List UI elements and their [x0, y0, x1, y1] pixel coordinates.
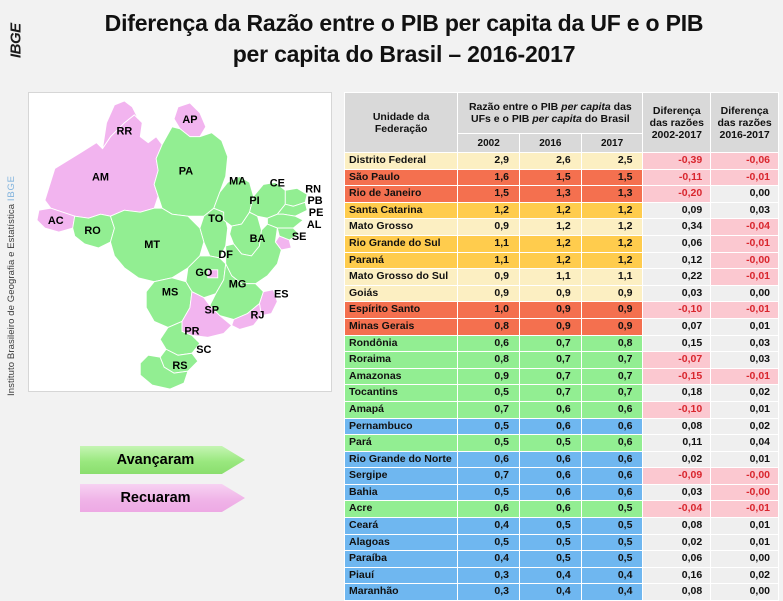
table-row: Alagoas0,50,50,50,020,01 — [345, 534, 779, 551]
cell-dif-2016-2017: 0,03 — [711, 335, 779, 352]
ratio-group-b: per capita — [561, 101, 611, 113]
cell-ratio-2017: 0,9 — [581, 318, 643, 335]
cell-ratio-2017: 0,4 — [581, 584, 643, 601]
map-label-ms: MS — [162, 287, 178, 299]
cell-dif-2002-2017: 0,12 — [643, 252, 711, 269]
cell-dif-2002-2017: 0,18 — [643, 385, 711, 402]
cell-ratio-2002: 0,6 — [458, 501, 520, 518]
table-row: Ceará0,40,50,50,080,01 — [345, 518, 779, 535]
cell-ratio-2002: 0,7 — [458, 401, 520, 418]
cell-ratio-2016: 0,6 — [520, 501, 582, 518]
table-row: Pernambuco0,50,60,60,080,02 — [345, 418, 779, 435]
table-row: Goiás0,90,90,90,030,00 — [345, 285, 779, 302]
col-header-dif-2002-2017: Diferença das razões 2002-2017 — [643, 93, 711, 153]
cell-ratio-2017: 0,5 — [581, 534, 643, 551]
legend-item-avancaram[interactable]: Avançaram — [80, 446, 245, 474]
col-header-uf: Unidade da Federação — [345, 93, 458, 153]
cell-ratio-2002: 1,2 — [458, 202, 520, 219]
table-row: Espírito Santo1,00,90,9-0,10-0,01 — [345, 302, 779, 319]
cell-ratio-2002: 0,5 — [458, 418, 520, 435]
cell-dif-2002-2017: 0,34 — [643, 219, 711, 236]
brazil-map-svg: RR AP AM AC PA RO MT TO MA PI CE RN PB P… — [29, 93, 331, 391]
cell-dif-2002-2017: -0,39 — [643, 153, 711, 170]
table-row: Piauí0,30,40,40,160,02 — [345, 567, 779, 584]
cell-uf-name: Sergipe — [345, 468, 458, 485]
page-title: Diferença da Razão entre o PIB per capit… — [34, 8, 774, 70]
map-label-se: SE — [292, 231, 307, 243]
cell-dif-2016-2017: 0,01 — [711, 534, 779, 551]
map-label-go: GO — [195, 267, 212, 279]
cell-dif-2016-2017: -0,01 — [711, 169, 779, 186]
cell-ratio-2017: 0,6 — [581, 418, 643, 435]
map-label-sc: SC — [196, 344, 211, 356]
dif2-line3: 2016-2017 — [714, 129, 775, 141]
table-row: Acre0,60,60,5-0,04-0,01 — [345, 501, 779, 518]
cell-ratio-2016: 1,2 — [520, 202, 582, 219]
map-state-am[interactable] — [45, 115, 162, 218]
cell-dif-2016-2017: 0,01 — [711, 518, 779, 535]
cell-dif-2002-2017: -0,07 — [643, 352, 711, 369]
cell-ratio-2017: 1,5 — [581, 169, 643, 186]
cell-ratio-2002: 0,9 — [458, 368, 520, 385]
legend-label-recuaram: Recuaram — [120, 490, 190, 506]
cell-uf-name: Mato Grosso — [345, 219, 458, 236]
map-label-to: TO — [208, 213, 223, 225]
cell-ratio-2002: 1,5 — [458, 186, 520, 203]
cell-uf-name: São Paulo — [345, 169, 458, 186]
cell-dif-2016-2017: -0,01 — [711, 235, 779, 252]
cell-ratio-2016: 0,7 — [520, 352, 582, 369]
cell-uf-name: Amapá — [345, 401, 458, 418]
map-label-sp: SP — [205, 305, 220, 317]
cell-ratio-2017: 0,5 — [581, 551, 643, 568]
cell-dif-2016-2017: 0,03 — [711, 352, 779, 369]
cell-ratio-2017: 1,2 — [581, 202, 643, 219]
cell-dif-2002-2017: 0,08 — [643, 518, 711, 535]
cell-uf-name: Acre — [345, 501, 458, 518]
cell-ratio-2016: 0,7 — [520, 335, 582, 352]
col-header-2016: 2016 — [520, 134, 582, 153]
cell-ratio-2002: 0,8 — [458, 318, 520, 335]
cell-dif-2002-2017: -0,20 — [643, 186, 711, 203]
cell-ratio-2017: 0,6 — [581, 401, 643, 418]
page-title-line2: per capita do Brasil – 2016-2017 — [34, 39, 774, 70]
cell-ratio-2017: 1,3 — [581, 186, 643, 203]
map-label-al: AL — [307, 219, 322, 231]
cell-ratio-2002: 0,5 — [458, 484, 520, 501]
table-row: Mato Grosso0,91,21,20,34-0,04 — [345, 219, 779, 236]
cell-ratio-2002: 1,6 — [458, 169, 520, 186]
cell-uf-name: Santa Catarina — [345, 202, 458, 219]
ibge-acronym-blue: IBGE — [6, 175, 17, 201]
col-header-2017: 2017 — [581, 134, 643, 153]
cell-dif-2016-2017: -0,01 — [711, 368, 779, 385]
cell-ratio-2002: 1,1 — [458, 252, 520, 269]
cell-dif-2016-2017: -0,00 — [711, 468, 779, 485]
cell-dif-2016-2017: -0,01 — [711, 501, 779, 518]
cell-ratio-2002: 1,0 — [458, 302, 520, 319]
cell-dif-2016-2017: 0,01 — [711, 451, 779, 468]
cell-uf-name: Mato Grosso do Sul — [345, 269, 458, 286]
cell-dif-2002-2017: 0,02 — [643, 534, 711, 551]
cell-ratio-2002: 0,4 — [458, 551, 520, 568]
cell-uf-name: Paraíba — [345, 551, 458, 568]
table-row: Amapá0,70,60,6-0,100,01 — [345, 401, 779, 418]
cell-uf-name: Amazonas — [345, 368, 458, 385]
legend-item-recuaram[interactable]: Recuaram — [80, 484, 245, 512]
map-label-ba: BA — [250, 233, 266, 245]
map-label-ce: CE — [270, 177, 285, 189]
cell-ratio-2016: 0,9 — [520, 285, 582, 302]
ibge-institute-vertical-text: Instituto Brasileiro de Geografia e Esta… — [6, 96, 17, 396]
cell-dif-2016-2017: 0,00 — [711, 186, 779, 203]
cell-uf-name: Alagoas — [345, 534, 458, 551]
cell-ratio-2016: 1,2 — [520, 219, 582, 236]
table-row: Rio de Janeiro1,51,31,3-0,200,00 — [345, 186, 779, 203]
table-row: Maranhão0,30,40,40,080,00 — [345, 584, 779, 601]
cell-ratio-2017: 1,2 — [581, 235, 643, 252]
table-row: Santa Catarina1,21,21,20,090,03 — [345, 202, 779, 219]
cell-uf-name: Paraná — [345, 252, 458, 269]
map-label-rn: RN — [305, 183, 321, 195]
cell-ratio-2017: 0,7 — [581, 352, 643, 369]
cell-ratio-2016: 1,2 — [520, 252, 582, 269]
cell-ratio-2017: 0,5 — [581, 518, 643, 535]
cell-ratio-2017: 2,5 — [581, 153, 643, 170]
map-label-ap: AP — [182, 114, 197, 126]
map-label-es: ES — [274, 289, 289, 301]
map-label-mt: MT — [144, 239, 160, 251]
cell-uf-name: Rio Grande do Sul — [345, 235, 458, 252]
cell-ratio-2002: 0,5 — [458, 534, 520, 551]
cell-uf-name: Pernambuco — [345, 418, 458, 435]
map-label-pr: PR — [184, 325, 199, 337]
cell-dif-2002-2017: -0,10 — [643, 302, 711, 319]
map-label-mg: MG — [229, 279, 247, 291]
cell-ratio-2017: 0,6 — [581, 451, 643, 468]
cell-dif-2016-2017: 0,00 — [711, 551, 779, 568]
cell-dif-2002-2017: -0,10 — [643, 401, 711, 418]
ibge-logo-icon: IBGE — [2, 12, 30, 70]
cell-uf-name: Rio de Janeiro — [345, 186, 458, 203]
cell-ratio-2016: 0,9 — [520, 302, 582, 319]
map-label-rj: RJ — [251, 309, 265, 321]
dif1-line2: das razões — [646, 117, 707, 129]
cell-dif-2002-2017: 0,08 — [643, 418, 711, 435]
cell-dif-2002-2017: 0,11 — [643, 435, 711, 452]
cell-ratio-2017: 1,1 — [581, 269, 643, 286]
cell-dif-2002-2017: 0,03 — [643, 484, 711, 501]
cell-ratio-2002: 0,9 — [458, 219, 520, 236]
legend-label-avancaram: Avançaram — [117, 452, 195, 468]
brazil-map-panel: RR AP AM AC PA RO MT TO MA PI CE RN PB P… — [28, 92, 332, 392]
cell-ratio-2016: 0,5 — [520, 518, 582, 535]
cell-dif-2016-2017: 0,01 — [711, 318, 779, 335]
dif2-line1: Diferença — [714, 105, 775, 117]
pib-ratio-table: Unidade da Federação Razão entre o PIB p… — [344, 92, 779, 601]
cell-uf-name: Rondônia — [345, 335, 458, 352]
table-header: Unidade da Federação Razão entre o PIB p… — [345, 93, 779, 153]
cell-dif-2002-2017: 0,07 — [643, 318, 711, 335]
map-label-pi: PI — [249, 195, 259, 207]
table-header-row-1: Unidade da Federação Razão entre o PIB p… — [345, 93, 779, 134]
cell-ratio-2017: 0,6 — [581, 435, 643, 452]
cell-dif-2016-2017: 0,02 — [711, 418, 779, 435]
cell-ratio-2016: 1,5 — [520, 169, 582, 186]
cell-ratio-2017: 0,7 — [581, 368, 643, 385]
table-row: São Paulo1,61,51,5-0,11-0,01 — [345, 169, 779, 186]
cell-ratio-2017: 0,4 — [581, 567, 643, 584]
cell-dif-2016-2017: 0,00 — [711, 584, 779, 601]
cell-ratio-2017: 0,8 — [581, 335, 643, 352]
cell-uf-name: Minas Gerais — [345, 318, 458, 335]
cell-dif-2016-2017: -0,00 — [711, 484, 779, 501]
pib-ratio-table-wrap: Unidade da Federação Razão entre o PIB p… — [344, 92, 779, 601]
map-label-pa: PA — [179, 165, 193, 177]
dif1-line1: Diferença — [646, 105, 707, 117]
ibge-logo-text: IBGE — [8, 24, 25, 59]
cell-ratio-2016: 1,3 — [520, 186, 582, 203]
cell-ratio-2002: 2,9 — [458, 153, 520, 170]
page-title-line1: Diferença da Razão entre o PIB per capit… — [105, 10, 704, 36]
map-label-rr: RR — [116, 126, 132, 138]
cell-ratio-2016: 2,6 — [520, 153, 582, 170]
table-row: Rio Grande do Sul1,11,21,20,06-0,01 — [345, 235, 779, 252]
cell-ratio-2016: 0,6 — [520, 401, 582, 418]
table-row: Paraná1,11,21,20,12-0,00 — [345, 252, 779, 269]
cell-ratio-2002: 0,8 — [458, 352, 520, 369]
cell-uf-name: Distrito Federal — [345, 153, 458, 170]
cell-dif-2002-2017: 0,22 — [643, 269, 711, 286]
cell-ratio-2002: 0,5 — [458, 385, 520, 402]
cell-dif-2002-2017: 0,09 — [643, 202, 711, 219]
cell-dif-2002-2017: 0,03 — [643, 285, 711, 302]
cell-dif-2016-2017: -0,06 — [711, 153, 779, 170]
slide-root: IBGE Instituto Brasileiro de Geografia e… — [0, 0, 783, 579]
cell-dif-2002-2017: 0,06 — [643, 235, 711, 252]
col-header-dif-2016-2017: Diferença das razões 2016-2017 — [711, 93, 779, 153]
cell-dif-2016-2017: 0,04 — [711, 435, 779, 452]
table-row: Tocantins0,50,70,70,180,02 — [345, 385, 779, 402]
cell-uf-name: Rio Grande do Norte — [345, 451, 458, 468]
table-row: Paraíba0,40,50,50,060,00 — [345, 551, 779, 568]
cell-dif-2016-2017: 0,00 — [711, 285, 779, 302]
cell-ratio-2016: 0,7 — [520, 385, 582, 402]
map-label-ac: AC — [48, 215, 64, 227]
ibge-institute-name: Instituto Brasileiro de Geografia e Esta… — [6, 204, 17, 396]
cell-uf-name: Maranhão — [345, 584, 458, 601]
table-row: Pará0,50,50,60,110,04 — [345, 435, 779, 452]
cell-ratio-2016: 0,9 — [520, 318, 582, 335]
cell-dif-2016-2017: -0,00 — [711, 252, 779, 269]
ratio-group-a: Razão entre o PIB — [469, 101, 561, 113]
table-row: Minas Gerais0,80,90,90,070,01 — [345, 318, 779, 335]
cell-ratio-2016: 0,5 — [520, 534, 582, 551]
cell-uf-name: Roraima — [345, 352, 458, 369]
cell-ratio-2002: 0,4 — [458, 518, 520, 535]
table-row: Sergipe0,70,60,6-0,09-0,00 — [345, 468, 779, 485]
cell-ratio-2016: 0,6 — [520, 451, 582, 468]
col-header-ratio-group: Razão entre o PIB per capita das UFs e o… — [458, 93, 643, 134]
cell-dif-2016-2017: -0,01 — [711, 269, 779, 286]
map-label-ma: MA — [229, 175, 246, 187]
map-label-pb: PB — [308, 195, 323, 207]
cell-dif-2002-2017: 0,16 — [643, 567, 711, 584]
col-header-2002: 2002 — [458, 134, 520, 153]
cell-ratio-2016: 0,5 — [520, 551, 582, 568]
map-label-rs: RS — [172, 360, 187, 372]
cell-ratio-2016: 1,2 — [520, 235, 582, 252]
cell-uf-name: Espírito Santo — [345, 302, 458, 319]
cell-ratio-2016: 1,1 — [520, 269, 582, 286]
cell-uf-name: Bahia — [345, 484, 458, 501]
cell-ratio-2002: 0,7 — [458, 468, 520, 485]
table-row: Roraima0,80,70,7-0,070,03 — [345, 352, 779, 369]
cell-dif-2002-2017: -0,11 — [643, 169, 711, 186]
cell-ratio-2002: 0,3 — [458, 567, 520, 584]
table-row: Amazonas0,90,70,7-0,15-0,01 — [345, 368, 779, 385]
cell-dif-2016-2017: -0,04 — [711, 219, 779, 236]
cell-ratio-2002: 1,1 — [458, 235, 520, 252]
cell-dif-2002-2017: 0,15 — [643, 335, 711, 352]
cell-dif-2002-2017: -0,15 — [643, 368, 711, 385]
ratio-group-e: do Brasil — [582, 113, 630, 125]
cell-ratio-2016: 0,6 — [520, 484, 582, 501]
cell-dif-2002-2017: -0,04 — [643, 501, 711, 518]
cell-ratio-2017: 0,9 — [581, 285, 643, 302]
table-row: Distrito Federal2,92,62,5-0,39-0,06 — [345, 153, 779, 170]
cell-ratio-2017: 1,2 — [581, 219, 643, 236]
cell-dif-2002-2017: -0,09 — [643, 468, 711, 485]
map-label-am: AM — [92, 171, 109, 183]
cell-uf-name: Tocantins — [345, 385, 458, 402]
cell-ratio-2017: 0,5 — [581, 501, 643, 518]
cell-ratio-2016: 0,5 — [520, 435, 582, 452]
cell-ratio-2017: 0,7 — [581, 385, 643, 402]
cell-ratio-2002: 0,9 — [458, 285, 520, 302]
table-row: Bahia0,50,60,60,03-0,00 — [345, 484, 779, 501]
cell-ratio-2002: 0,9 — [458, 269, 520, 286]
cell-dif-2002-2017: 0,02 — [643, 451, 711, 468]
cell-uf-name: Piauí — [345, 567, 458, 584]
map-label-pe: PE — [309, 207, 324, 219]
cell-ratio-2017: 1,2 — [581, 252, 643, 269]
cell-uf-name: Goiás — [345, 285, 458, 302]
cell-dif-2016-2017: 0,03 — [711, 202, 779, 219]
table-row: Rondônia0,60,70,80,150,03 — [345, 335, 779, 352]
map-label-ro: RO — [84, 225, 101, 237]
table-body: Distrito Federal2,92,62,5-0,39-0,06São P… — [345, 153, 779, 601]
cell-dif-2002-2017: 0,08 — [643, 584, 711, 601]
dif1-line3: 2002-2017 — [646, 129, 707, 141]
cell-ratio-2017: 0,6 — [581, 484, 643, 501]
table-row: Mato Grosso do Sul0,91,11,10,22-0,01 — [345, 269, 779, 286]
cell-ratio-2017: 0,9 — [581, 302, 643, 319]
cell-uf-name: Ceará — [345, 518, 458, 535]
cell-dif-2016-2017: 0,01 — [711, 401, 779, 418]
cell-ratio-2002: 0,5 — [458, 435, 520, 452]
cell-ratio-2002: 0,6 — [458, 335, 520, 352]
cell-ratio-2017: 0,6 — [581, 468, 643, 485]
cell-ratio-2016: 0,6 — [520, 468, 582, 485]
cell-ratio-2016: 0,6 — [520, 418, 582, 435]
dif2-line2: das razões — [714, 117, 775, 129]
cell-dif-2016-2017: 0,02 — [711, 385, 779, 402]
cell-dif-2016-2017: -0,01 — [711, 302, 779, 319]
map-legend: Avançaram Recuaram — [80, 446, 310, 522]
cell-ratio-2016: 0,7 — [520, 368, 582, 385]
map-label-df: DF — [218, 249, 233, 261]
cell-dif-2016-2017: 0,02 — [711, 567, 779, 584]
cell-ratio-2002: 0,3 — [458, 584, 520, 601]
ratio-group-d: per capita — [532, 113, 582, 125]
cell-ratio-2016: 0,4 — [520, 567, 582, 584]
cell-dif-2002-2017: 0,06 — [643, 551, 711, 568]
cell-ratio-2002: 0,6 — [458, 451, 520, 468]
cell-uf-name: Pará — [345, 435, 458, 452]
table-row: Rio Grande do Norte0,60,60,60,020,01 — [345, 451, 779, 468]
cell-ratio-2016: 0,4 — [520, 584, 582, 601]
